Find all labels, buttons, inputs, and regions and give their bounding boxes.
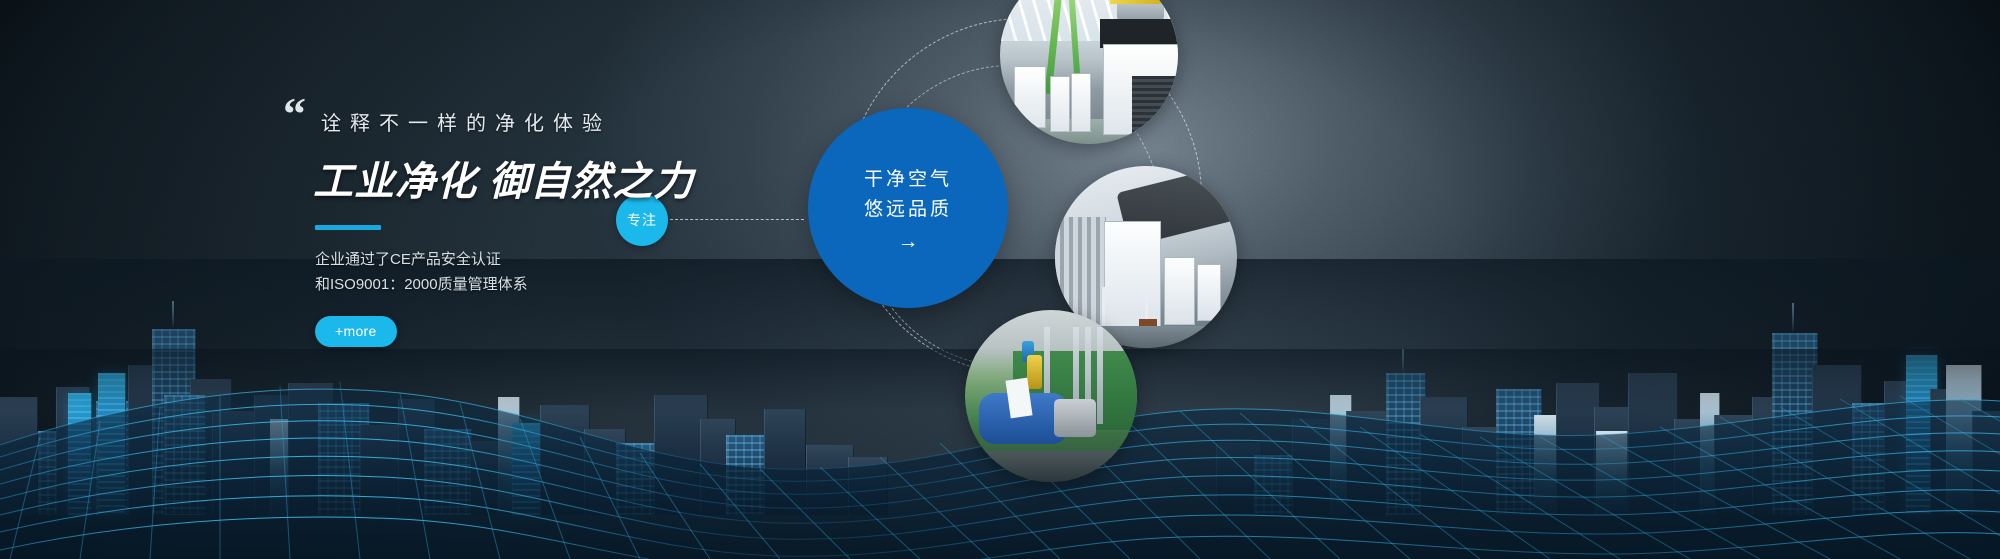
hero-copy-block: “ 诠释不一样的净化体验 工业净化 御自然之力 企业通过了CE产品安全认证 和I…	[283, 95, 903, 347]
factory-production-hall-image	[1000, 0, 1178, 144]
hero-title: 工业净化 御自然之力	[313, 149, 903, 207]
hero-subtitle: 诠释不一样的净化体验	[321, 95, 903, 135]
pressure-vessel-equipment-image	[965, 310, 1137, 482]
quote-mark-icon: “	[283, 91, 304, 137]
photo-circle-pressure-vessel-equipment[interactable]	[965, 310, 1137, 482]
hero-description: 企业通过了CE产品安全认证 和ISO9001：2000质量管理体系	[315, 247, 903, 297]
photo-circle-factory-production-hall[interactable]	[1000, 0, 1178, 144]
title-underline-rule	[315, 225, 381, 230]
more-button[interactable]: +more	[315, 316, 397, 347]
hero-description-line-2: 和ISO9001：2000质量管理体系	[315, 272, 903, 297]
hero-description-line-1: 企业通过了CE产品安全认证	[315, 247, 903, 272]
hero-banner: 专注 干净空气 悠远品质 →	[0, 0, 2000, 559]
